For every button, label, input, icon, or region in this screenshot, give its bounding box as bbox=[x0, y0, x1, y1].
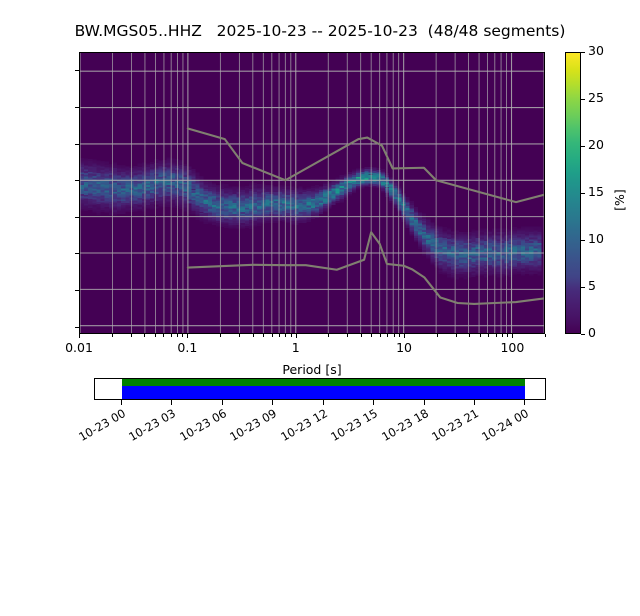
x-minor-tick-mark bbox=[171, 334, 172, 337]
timeline-tick-mark bbox=[171, 400, 172, 405]
ppsd-plot-area[interactable] bbox=[79, 52, 545, 334]
timeline-tick-label: 10-23 15 bbox=[323, 406, 380, 447]
colorbar-tick-label: 30 bbox=[588, 45, 628, 58]
x-minor-tick-mark bbox=[496, 334, 497, 337]
x-minor-tick-mark bbox=[163, 334, 164, 337]
timeline-tick-mark bbox=[323, 400, 324, 405]
x-axis-label: Period [s] bbox=[79, 362, 545, 377]
colorbar-label: [%] bbox=[612, 160, 630, 240]
x-minor-tick-mark bbox=[488, 334, 489, 337]
x-minor-tick-mark bbox=[328, 334, 329, 337]
x-minor-tick-mark bbox=[371, 334, 372, 337]
y-tick-mark bbox=[75, 107, 79, 108]
colorbar-tick-label: 20 bbox=[588, 139, 628, 152]
timeline-tick-label: 10-23 12 bbox=[272, 406, 329, 447]
x-minor-tick-mark bbox=[347, 334, 348, 337]
x-minor-tick-mark bbox=[361, 334, 362, 337]
x-minor-tick-mark bbox=[456, 334, 457, 337]
x-minor-tick-mark bbox=[291, 334, 292, 337]
y-tick-mark bbox=[75, 144, 79, 145]
x-minor-tick-mark bbox=[394, 334, 395, 337]
colorbar-tick-mark bbox=[581, 287, 585, 288]
timeline-tick-mark bbox=[524, 400, 525, 405]
timeline-tick-mark bbox=[272, 400, 273, 405]
x-tick-label: 0.1 bbox=[147, 340, 227, 355]
timeline-tick-mark bbox=[424, 400, 425, 405]
x-minor-tick-mark bbox=[387, 334, 388, 337]
colorbar-tick-mark bbox=[581, 99, 585, 100]
timeline-tick-label: 10-23 18 bbox=[373, 406, 430, 447]
x-tick-label: 10 bbox=[364, 340, 444, 355]
x-minor-tick-mark bbox=[469, 334, 470, 337]
timeline-axes[interactable] bbox=[94, 378, 546, 400]
x-minor-tick-mark bbox=[272, 334, 273, 337]
x-minor-tick-mark bbox=[437, 334, 438, 337]
psd-segments-bar bbox=[122, 386, 525, 399]
colorbar[interactable] bbox=[565, 52, 581, 334]
y-tick-mark bbox=[75, 290, 79, 291]
x-tick-mark bbox=[296, 334, 297, 338]
colorbar-tick-mark bbox=[581, 146, 585, 147]
y-tick-mark bbox=[75, 70, 79, 71]
timeline-tick-label: 10-23 00 bbox=[71, 406, 128, 447]
timeline-tick-mark bbox=[222, 400, 223, 405]
x-tick-mark bbox=[512, 334, 513, 338]
page-title: BW.MGS05..HHZ 2025-10-23 -- 2025-10-23 (… bbox=[0, 22, 640, 40]
y-tick-mark bbox=[75, 327, 79, 328]
x-minor-tick-mark bbox=[380, 334, 381, 337]
x-minor-tick-mark bbox=[112, 334, 113, 337]
x-minor-tick-mark bbox=[144, 334, 145, 337]
colorbar-tick-mark bbox=[581, 334, 585, 335]
x-minor-tick-mark bbox=[263, 334, 264, 337]
timeline-tick-label: 10-23 03 bbox=[121, 406, 178, 447]
x-minor-tick-mark bbox=[220, 334, 221, 337]
x-tick-mark bbox=[79, 334, 80, 338]
colorbar-tick-label: 0 bbox=[588, 327, 628, 340]
x-tick-mark bbox=[187, 334, 188, 338]
x-tick-mark bbox=[404, 334, 405, 338]
timeline-tick-mark bbox=[121, 400, 122, 405]
x-tick-label: 1 bbox=[256, 340, 336, 355]
y-tick-mark bbox=[75, 217, 79, 218]
timeline-tick-label: 10-23 21 bbox=[423, 406, 480, 447]
x-tick-label: 0.01 bbox=[39, 340, 119, 355]
timeline-tick-label: 10-23 09 bbox=[222, 406, 279, 447]
x-minor-tick-mark bbox=[279, 334, 280, 337]
timeline-tick-mark bbox=[373, 400, 374, 405]
colorbar-tick-mark bbox=[581, 193, 585, 194]
colorbar-tick-mark bbox=[581, 52, 585, 53]
colorbar-tick-mark bbox=[581, 240, 585, 241]
x-minor-tick-mark bbox=[239, 334, 240, 337]
timeline-tick-label: 10-23 06 bbox=[172, 406, 229, 447]
x-minor-tick-mark bbox=[545, 334, 546, 337]
y-tick-mark bbox=[75, 180, 79, 181]
x-minor-tick-mark bbox=[131, 334, 132, 337]
data-availability-bar bbox=[122, 379, 525, 386]
x-minor-tick-mark bbox=[177, 334, 178, 337]
x-minor-tick-mark bbox=[182, 334, 183, 337]
x-minor-tick-mark bbox=[480, 334, 481, 337]
x-minor-tick-mark bbox=[507, 334, 508, 337]
colorbar-tick-label: 5 bbox=[588, 280, 628, 293]
colorbar-tick-label: 25 bbox=[588, 92, 628, 105]
x-minor-tick-mark bbox=[285, 334, 286, 337]
x-minor-tick-mark bbox=[502, 334, 503, 337]
y-tick-mark bbox=[75, 253, 79, 254]
density-cells bbox=[80, 158, 542, 280]
timeline-tick-mark bbox=[474, 400, 475, 405]
timeline-tick-label: 10-24 00 bbox=[474, 406, 531, 447]
ppsd-figure: BW.MGS05..HHZ 2025-10-23 -- 2025-10-23 (… bbox=[0, 0, 640, 480]
x-tick-label: 100 bbox=[472, 340, 552, 355]
x-minor-tick-mark bbox=[253, 334, 254, 337]
x-minor-tick-mark bbox=[155, 334, 156, 337]
ppsd-density-canvas bbox=[80, 53, 544, 333]
x-minor-tick-mark bbox=[399, 334, 400, 337]
